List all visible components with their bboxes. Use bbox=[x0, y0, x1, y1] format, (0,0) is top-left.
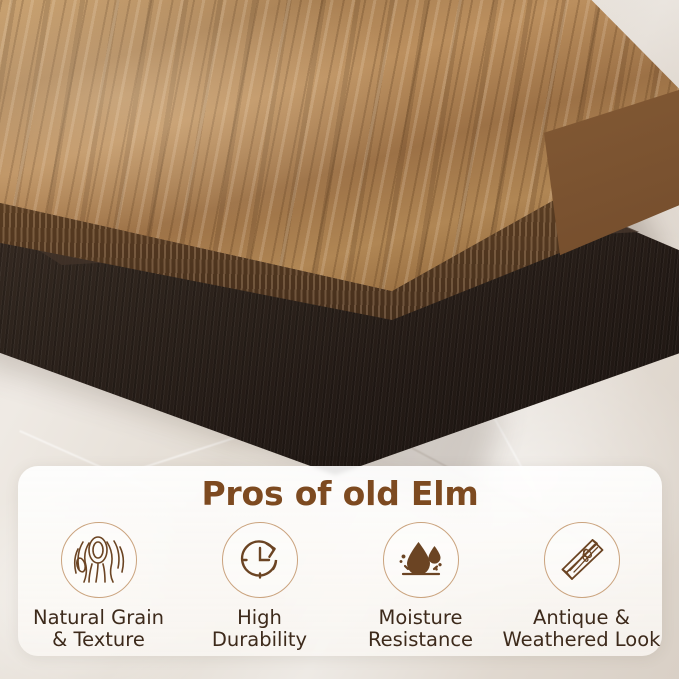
feature-label: Moisture Resistance bbox=[368, 607, 473, 651]
wood-grain-icon bbox=[72, 533, 126, 587]
water-droplet-icon-circle bbox=[383, 522, 459, 598]
wood-plank-icon bbox=[556, 534, 608, 586]
feature-natural-grain[interactable]: Natural Grain & Texture bbox=[18, 522, 179, 651]
wood-plank-icon-circle bbox=[544, 522, 620, 598]
panel-title: Pros of old Elm bbox=[18, 474, 662, 513]
product-infographic: Pros of old Elm bbox=[0, 0, 679, 679]
clock-rotate-icon bbox=[235, 535, 285, 585]
feature-moisture-resistance[interactable]: Moisture Resistance bbox=[340, 522, 501, 651]
clock-rotate-icon-circle bbox=[222, 522, 298, 598]
water-droplet-icon bbox=[396, 535, 446, 585]
pros-panel: Pros of old Elm bbox=[18, 466, 662, 656]
wood-grain-icon-circle bbox=[61, 522, 137, 598]
light-walnut-board bbox=[0, 0, 679, 320]
feature-label: High Durability bbox=[212, 607, 307, 651]
feature-antique-weathered[interactable]: Antique & Weathered Look bbox=[501, 522, 662, 651]
feature-label: Natural Grain & Texture bbox=[33, 607, 164, 651]
feature-high-durability[interactable]: High Durability bbox=[179, 522, 340, 651]
feature-list: Natural Grain & Texture High bbox=[18, 522, 662, 651]
feature-label: Antique & Weathered Look bbox=[503, 607, 661, 651]
